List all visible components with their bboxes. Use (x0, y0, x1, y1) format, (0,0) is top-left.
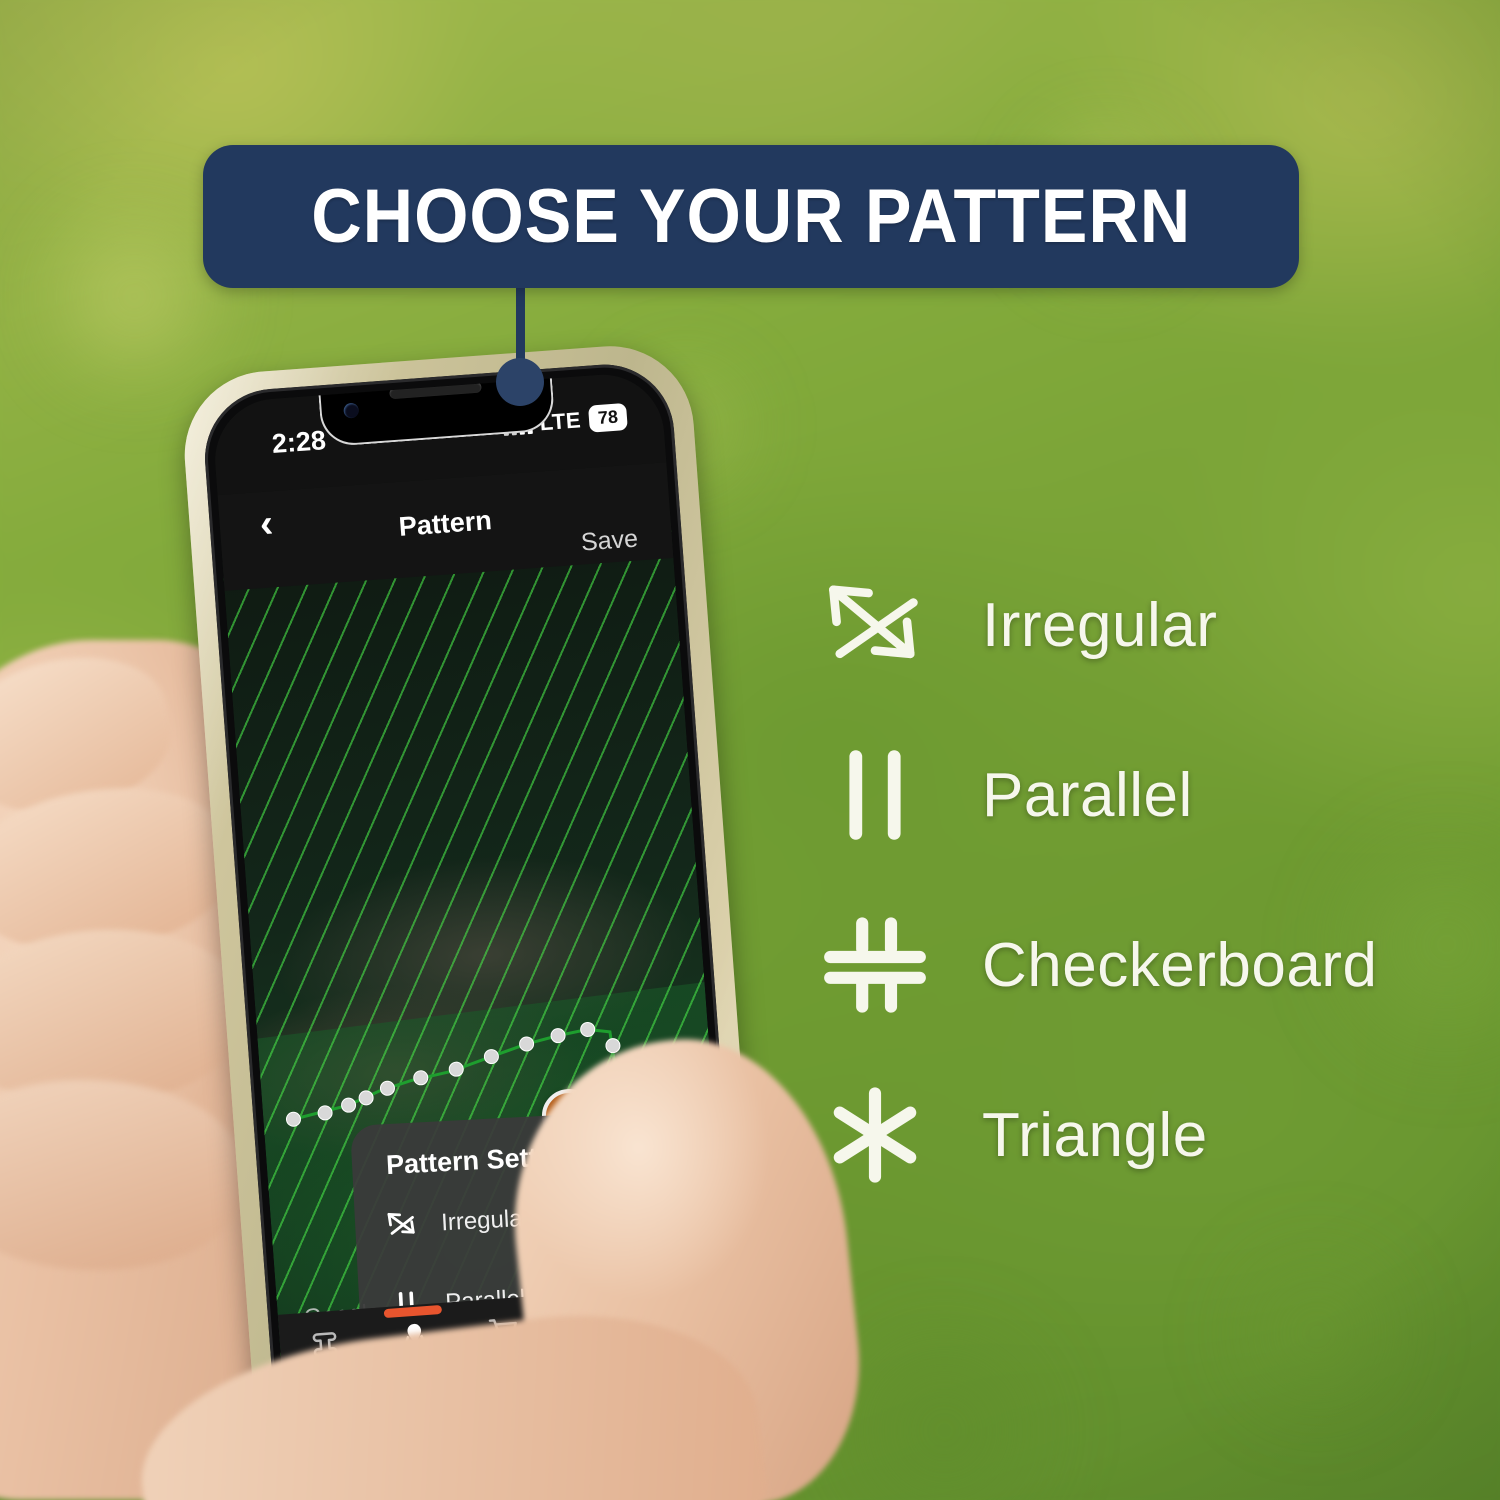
legend-item-irregular: Irregular (820, 540, 1460, 710)
save-button[interactable]: Save (580, 524, 639, 557)
legend-label: Checkerboard (982, 930, 1377, 1001)
checkerboard-pattern-icon (820, 917, 930, 1013)
headline-text: CHOOSE YOUR PATTERN (311, 173, 1191, 260)
status-clock: 2:28 (271, 425, 327, 460)
headline-banner: CHOOSE YOUR PATTERN (203, 145, 1299, 288)
pattern-legend: Irregular Parallel (820, 540, 1460, 1220)
active-tab-indicator (384, 1305, 443, 1318)
irregular-pattern-icon (820, 577, 930, 673)
legend-label: Irregular (982, 590, 1217, 661)
promo-graphic: Google Pattern Settings Irregular (0, 0, 1500, 1500)
legend-item-parallel: Parallel (820, 710, 1460, 880)
callout-dot (496, 358, 544, 406)
triangle-pattern-icon (820, 1087, 930, 1183)
battery-indicator: 78 (588, 403, 628, 433)
legend-label: Triangle (982, 1100, 1208, 1171)
legend-item-triangle: Triangle (820, 1050, 1460, 1220)
parallel-pattern-icon (820, 747, 930, 843)
legend-label: Parallel (982, 760, 1193, 831)
front-camera (343, 403, 359, 419)
irregular-pattern-icon (384, 1208, 420, 1244)
legend-item-checkerboard: Checkerboard (820, 880, 1460, 1050)
